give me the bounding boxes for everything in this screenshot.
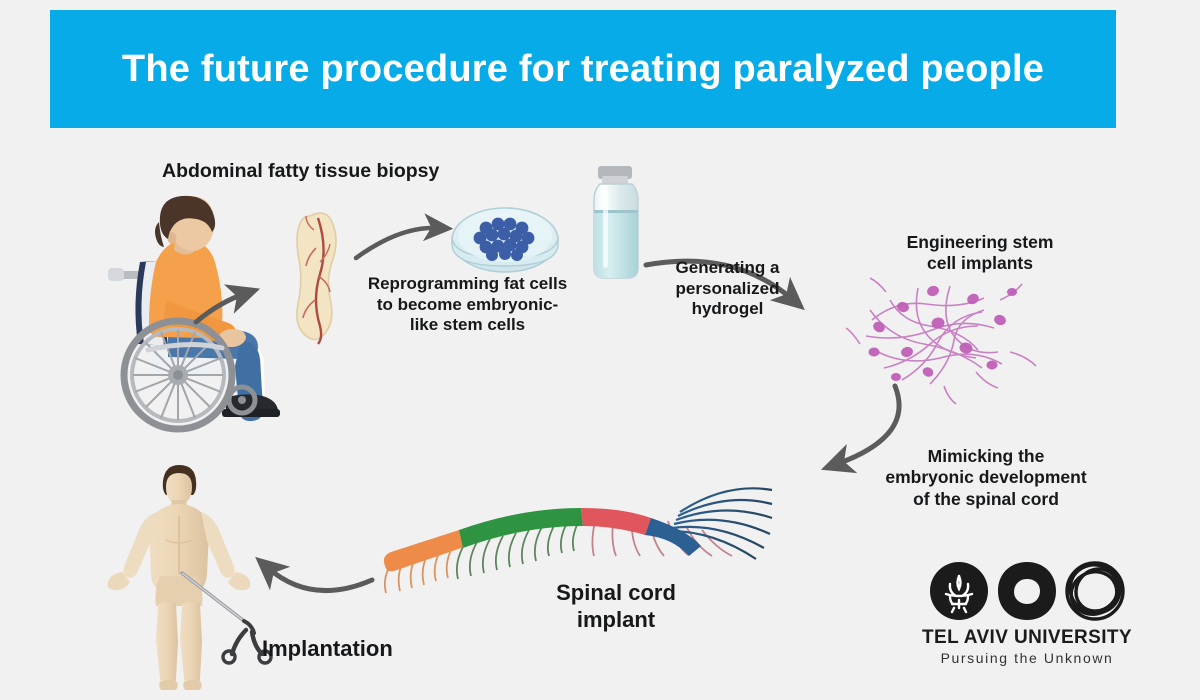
tau-emblem-icon <box>928 560 990 622</box>
logo-tagline: Pursuing the Unknown <box>922 650 1132 666</box>
label-abdominal-fatty-tissue-biopsy: Abdominal fatty tissue biopsy <box>162 160 439 184</box>
tel-aviv-university-logo: TEL AVIV UNIVERSITY Pursuing the Unknown <box>922 560 1132 680</box>
surgical-forceps-icon <box>182 573 271 663</box>
tau-spiral-icon <box>1064 560 1126 622</box>
person-in-wheelchair-icon <box>108 196 280 429</box>
logo-university-name: TEL AVIV UNIVERSITY <box>922 627 1132 649</box>
hydrogel-vial-icon <box>594 166 638 278</box>
stem-cell-colony-icon <box>474 218 535 261</box>
page-title: The future procedure for treating paraly… <box>122 48 1044 91</box>
label-mimicking-embryonic-development: Mimicking the embryonic development of t… <box>862 446 1110 510</box>
label-generating-personalized-hydrogel: Generating a personalized hydrogel <box>645 258 810 320</box>
tau-ring-icon <box>996 560 1058 622</box>
fatty-tissue-icon <box>297 213 336 344</box>
arrow-wheelchair-to-tissue <box>196 294 244 322</box>
spinal-cord-implant-icon <box>384 488 772 593</box>
neural-network-icon <box>846 278 1036 404</box>
arrow-spinal-cord-to-body <box>268 568 372 591</box>
human-back-figure-icon <box>108 465 251 690</box>
arrow-tissue-to-petri-dish <box>356 228 438 258</box>
logo-marks <box>922 560 1132 622</box>
petri-dish-icon <box>452 208 558 272</box>
neuron-soma-group <box>869 284 1018 381</box>
label-implantation: Implantation <box>262 636 393 663</box>
label-reprogramming-fat-cells: Reprogramming fat cells to become embryo… <box>360 274 575 336</box>
label-engineering-stem-cell-implants: Engineering stem cell implants <box>890 232 1070 275</box>
label-spinal-cord-implant: Spinal cord implant <box>536 580 696 634</box>
infographic-canvas: The future procedure for treating paraly… <box>0 0 1200 700</box>
title-banner: The future procedure for treating paraly… <box>50 10 1116 128</box>
